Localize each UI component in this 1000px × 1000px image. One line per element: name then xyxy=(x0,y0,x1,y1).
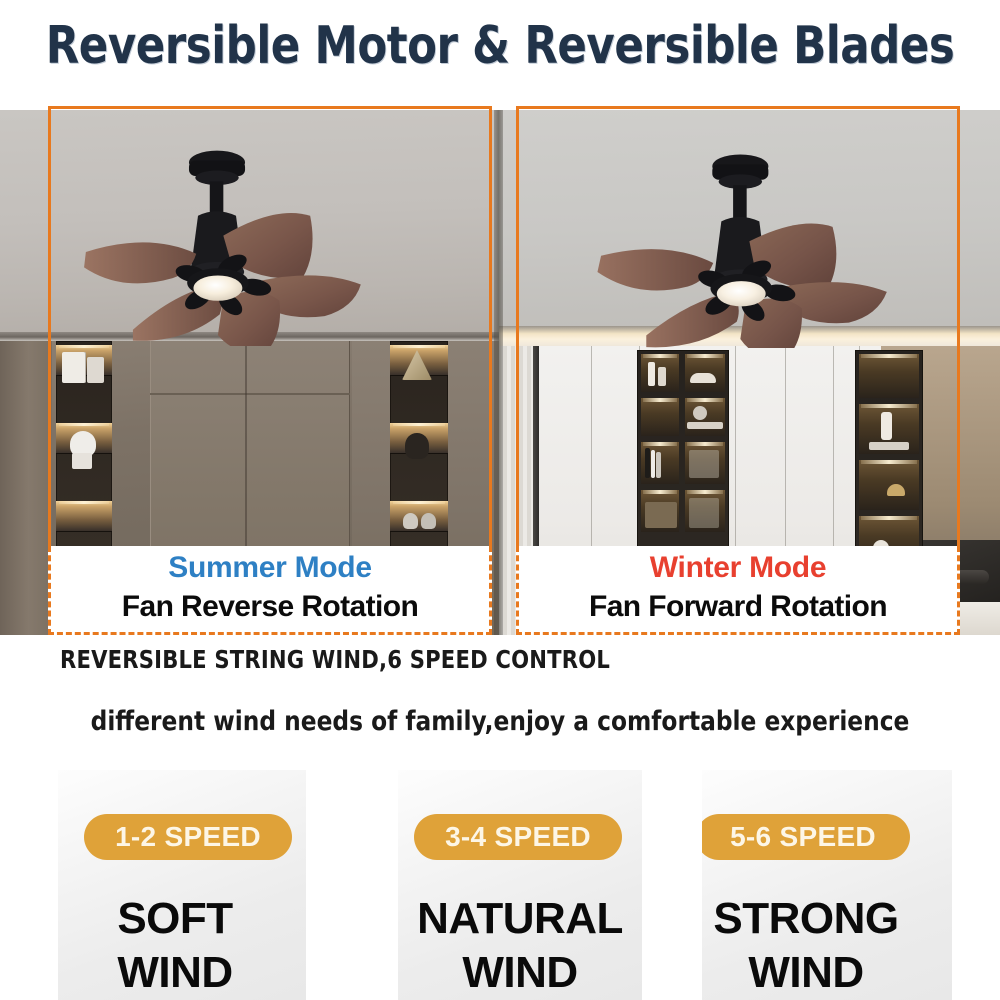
wind-name-natural: NATURAL WIND xyxy=(398,892,642,1000)
tagline-secondary: different wind needs of family,enjoy a c… xyxy=(20,706,980,737)
wind-name-line1: NATURAL xyxy=(398,892,642,946)
speed-cards: 1-2 SPEED SOFT WIND 3-4 SPEED NATURAL WI… xyxy=(0,770,1000,1000)
wind-name-line1: SOFT xyxy=(58,892,292,946)
product-feature-page: Reversible Motor & Reversible Blades xyxy=(0,0,1000,1000)
wall-pillar xyxy=(0,341,52,635)
tagline-primary: REVERSIBLE STRING WIND,6 SPEED CONTROL xyxy=(60,645,610,674)
wind-name-soft: SOFT WIND xyxy=(58,892,306,1000)
speed-card-natural: 3-4 SPEED NATURAL WIND xyxy=(398,770,642,1000)
photo-divider xyxy=(494,110,503,635)
speed-badge-1-2: 1-2 SPEED xyxy=(84,814,292,860)
summer-mode-label: Summer Mode xyxy=(51,549,489,587)
winter-rotation-label: Fan Forward Rotation xyxy=(519,587,957,627)
summer-rotation-label: Fan Reverse Rotation xyxy=(51,587,489,627)
summer-panel-frame xyxy=(48,106,492,568)
wind-name-strong: STRONG WIND xyxy=(702,892,952,1000)
speed-card-soft: 1-2 SPEED SOFT WIND xyxy=(58,770,306,1000)
speed-badge-3-4: 3-4 SPEED xyxy=(414,814,622,860)
wind-name-line2: WIND xyxy=(58,946,292,1000)
speed-card-strong: 5-6 SPEED STRONG WIND xyxy=(702,770,952,1000)
winter-panel-frame xyxy=(516,106,960,568)
winter-mode-caption: Winter Mode Fan Forward Rotation xyxy=(516,546,960,635)
wind-name-line2: WIND xyxy=(702,946,910,1000)
wind-name-line1: STRONG xyxy=(702,892,910,946)
summer-mode-caption: Summer Mode Fan Reverse Rotation xyxy=(48,546,492,635)
winter-mode-label: Winter Mode xyxy=(519,549,957,587)
speed-badge-5-6: 5-6 SPEED xyxy=(702,814,910,860)
page-title: Reversible Motor & Reversible Blades xyxy=(35,16,965,76)
wind-name-line2: WIND xyxy=(398,946,642,1000)
